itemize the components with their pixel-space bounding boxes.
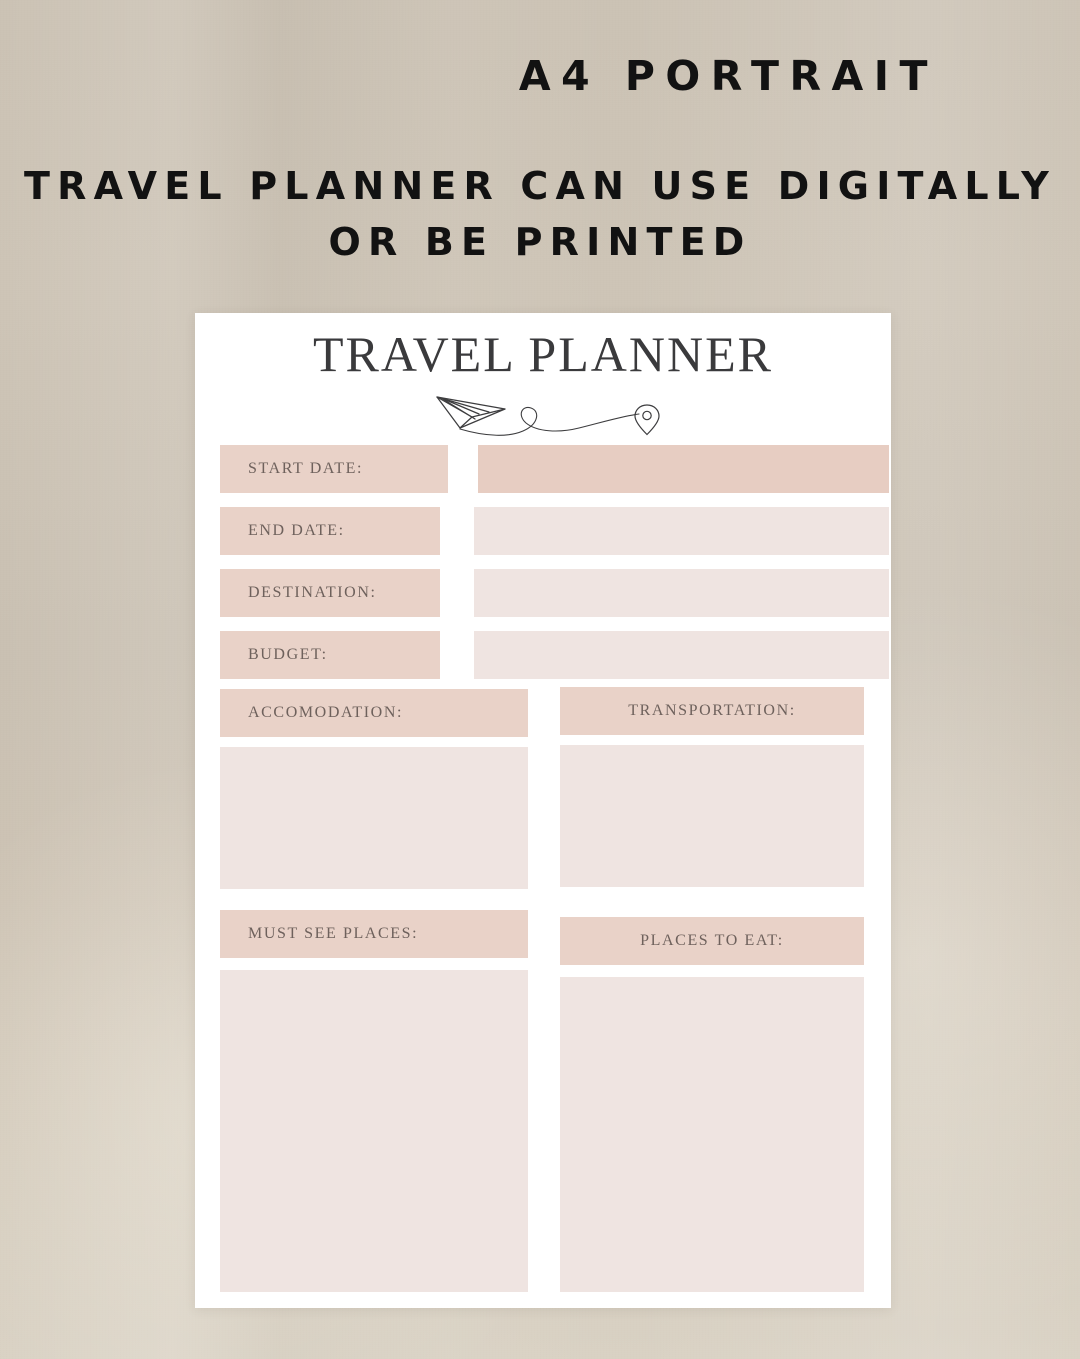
paper-plane-trail-svg [427, 387, 677, 439]
input-budget[interactable] [474, 631, 889, 679]
input-start-date[interactable] [478, 445, 889, 493]
field-row-end-date: END DATE: [220, 507, 866, 555]
label-end-date: END DATE: [220, 507, 440, 555]
paper-plane-icon [437, 397, 505, 428]
screenshot-canvas: A4 PORTRAIT TRAVEL PLANNER CAN USE DIGIT… [0, 0, 1080, 1359]
travel-planner-page: TRAVEL PLANNER [195, 313, 891, 1308]
section-header-must-see-places-text: MUST SEE PLACES: [220, 925, 418, 943]
section-header-accomodation: ACCOMODATION: [220, 689, 528, 737]
promo-description: TRAVEL PLANNER CAN USE DIGITALLY OR BE P… [0, 158, 1080, 270]
input-end-date[interactable] [474, 507, 889, 555]
input-accomodation[interactable] [220, 747, 528, 889]
paper-plane-decoration [427, 387, 677, 439]
promo-description-line-1: TRAVEL PLANNER CAN USE DIGITALLY [0, 158, 1080, 214]
section-header-must-see-places: MUST SEE PLACES: [220, 910, 528, 958]
label-budget: BUDGET: [220, 631, 440, 679]
label-end-date-text: END DATE: [220, 522, 345, 540]
section-header-places-to-eat: PLACES TO EAT: [560, 917, 864, 965]
label-destination: DESTINATION: [220, 569, 440, 617]
field-row-start-date: START DATE: [220, 445, 866, 493]
label-destination-text: DESTINATION: [220, 584, 377, 602]
label-budget-text: BUDGET: [220, 646, 328, 664]
input-transportation[interactable] [560, 745, 864, 887]
input-places-to-eat[interactable] [560, 977, 864, 1292]
input-destination[interactable] [474, 569, 889, 617]
label-start-date-text: START DATE: [220, 460, 363, 478]
section-header-transportation: TRANSPORTATION: [560, 687, 864, 735]
field-row-budget: BUDGET: [220, 631, 866, 679]
page-title: TRAVEL PLANNER [195, 325, 891, 383]
field-row-destination: DESTINATION: [220, 569, 866, 617]
section-header-transportation-text: TRANSPORTATION: [628, 702, 796, 720]
section-header-accomodation-text: ACCOMODATION: [220, 704, 403, 722]
section-header-places-to-eat-text: PLACES TO EAT: [640, 932, 784, 950]
input-must-see-places[interactable] [220, 970, 528, 1292]
label-start-date: START DATE: [220, 445, 448, 493]
map-pin-icon [635, 405, 659, 435]
promo-description-line-2: OR BE PRINTED [0, 214, 1080, 270]
format-heading: A4 PORTRAIT [0, 52, 1080, 100]
